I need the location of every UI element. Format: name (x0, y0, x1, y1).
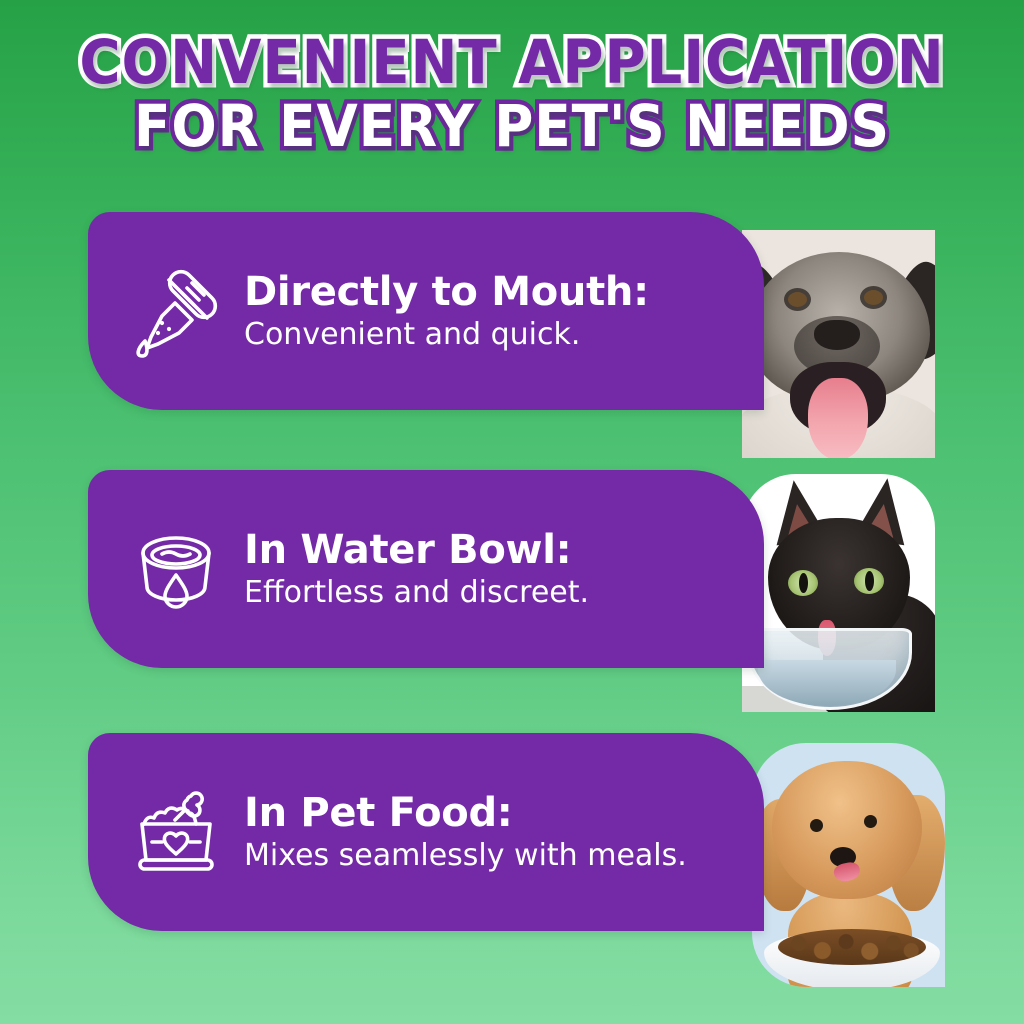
dropper-icon (122, 257, 230, 365)
food-bowl-icon (122, 778, 230, 886)
poodle-eye-right (864, 815, 877, 828)
kibble-food (778, 929, 926, 965)
feature-row-2: In Water Bowl: Effortless and discreet. (0, 470, 1024, 720)
feature-card-directly-to-mouth[interactable]: Directly to Mouth: Convenient and quick. (88, 212, 764, 410)
dog-nose (814, 320, 860, 350)
title-line-2: FOR EVERY PET'S NEEDS (41, 99, 983, 155)
feature-row-3: In Pet Food: Mixes seamlessly with meals… (0, 733, 1024, 983)
photo-panel-dog-food (752, 743, 945, 987)
card-subtext: Convenient and quick. (244, 318, 649, 351)
page-title: CONVENIENT APPLICATION FOR EVERY PET'S N… (0, 34, 1024, 154)
card-heading: In Pet Food: (244, 792, 687, 834)
infographic-canvas: CONVENIENT APPLICATION FOR EVERY PET'S N… (0, 0, 1024, 1024)
cat-pupil-left (799, 573, 808, 593)
card-heading: Directly to Mouth: (244, 271, 649, 313)
dog-tongue (808, 378, 868, 458)
photo-panel-dog-mouth (742, 230, 935, 458)
poodle-photo-art (752, 743, 945, 987)
feature-card-in-water-bowl[interactable]: In Water Bowl: Effortless and discreet. (88, 470, 764, 668)
cat-photo-art (742, 474, 935, 712)
feature-row-1: Directly to Mouth: Convenient and quick. (0, 212, 1024, 462)
poodle-eye-left (810, 819, 823, 832)
card-heading: In Water Bowl: (244, 529, 589, 571)
feature-card-in-pet-food[interactable]: In Pet Food: Mixes seamlessly with meals… (88, 733, 764, 931)
title-line-1: CONVENIENT APPLICATION (41, 34, 983, 93)
photo-panel-cat-water (742, 474, 935, 712)
dog-photo-art (742, 230, 935, 458)
dog-eye-right (864, 290, 883, 305)
dog-eye-left (788, 292, 807, 307)
water-bowl-icon (122, 515, 230, 623)
card-subtext: Effortless and discreet. (244, 576, 589, 609)
card-subtext: Mixes seamlessly with meals. (244, 839, 687, 872)
cat-pupil-right (865, 571, 874, 591)
